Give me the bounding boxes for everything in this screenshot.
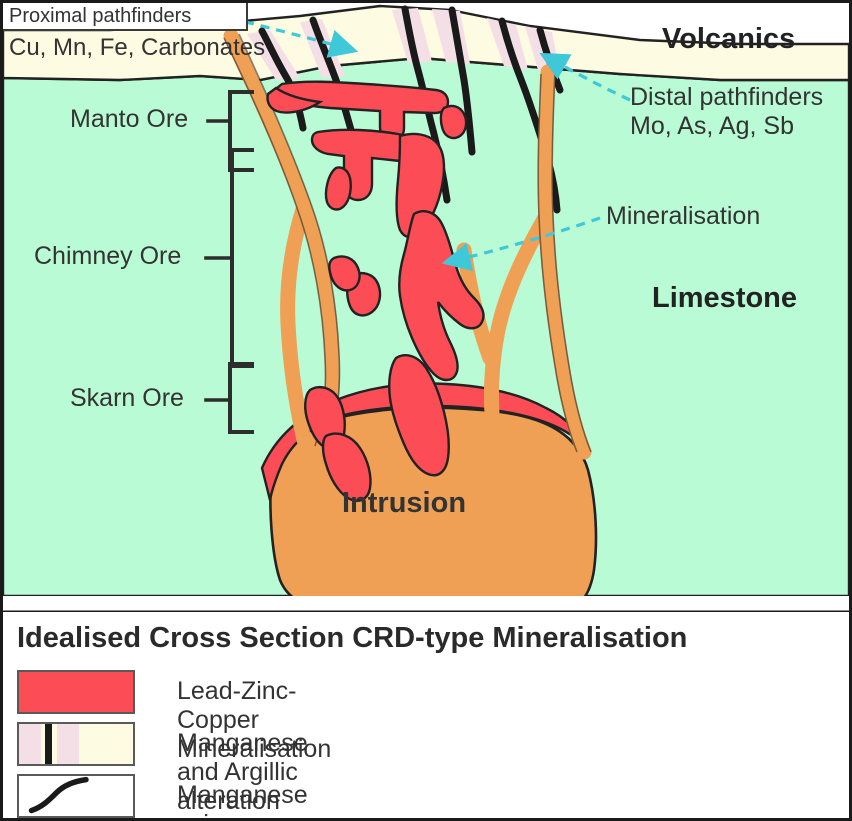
figure-canvas: Proximal pathfinders Cu, Mn, Fe, Carbona… <box>0 0 852 821</box>
figure-border <box>0 0 852 821</box>
